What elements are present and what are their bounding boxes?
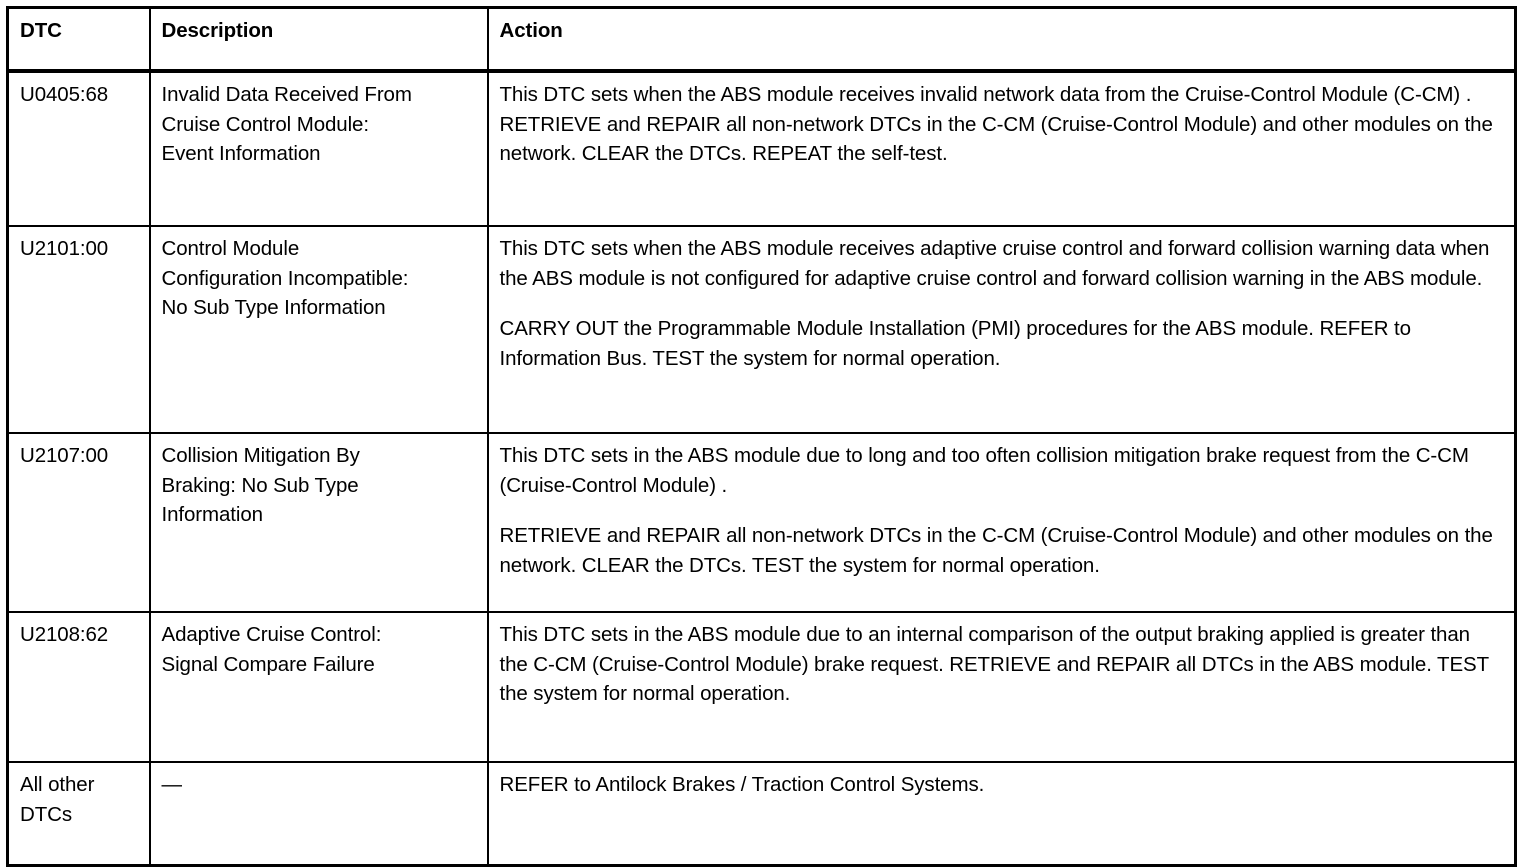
dtc-code-text: All other DTCs	[20, 770, 140, 829]
cell-description: Invalid Data Received From Cruise Contro…	[150, 71, 488, 226]
description-line: No Sub Type Information	[162, 293, 478, 323]
table-row: U2101:00 Control Module Configuration In…	[8, 226, 1516, 433]
cell-action: This DTC sets when the ABS module receiv…	[488, 226, 1516, 433]
description-text: Adaptive Cruise Control: Signal Compare …	[162, 620, 478, 679]
table-header: DTC Description Action	[8, 8, 1516, 72]
action-paragraph: This DTC sets when the ABS module receiv…	[500, 80, 1495, 169]
table-row: All other DTCs — REFER to Antilock Brake…	[8, 762, 1516, 866]
cell-action: This DTC sets when the ABS module receiv…	[488, 71, 1516, 226]
description-line: Collision Mitigation By	[162, 441, 478, 471]
cell-dtc-code: U0405:68	[8, 71, 150, 226]
column-header-dtc: DTC	[8, 8, 150, 72]
cell-description: —	[150, 762, 488, 866]
table-row: U2107:00 Collision Mitigation By Braking…	[8, 433, 1516, 612]
action-paragraph: RETRIEVE and REPAIR all non-network DTCs…	[500, 521, 1495, 580]
dtc-code-line: All other	[20, 770, 140, 800]
action-paragraph: This DTC sets in the ABS module due to a…	[500, 620, 1495, 709]
cell-dtc-code: U2107:00	[8, 433, 150, 612]
description-line: Control Module	[162, 234, 478, 264]
description-em-dash: —	[162, 770, 478, 800]
description-line: Braking: No Sub Type	[162, 471, 478, 501]
cell-description: Control Module Configuration Incompatibl…	[150, 226, 488, 433]
description-line: Information	[162, 500, 478, 530]
description-line: Signal Compare Failure	[162, 650, 478, 680]
dtc-code-text: U2108:62	[20, 623, 108, 646]
dtc-code-text: U2107:00	[20, 444, 108, 467]
action-paragraph: REFER to Antilock Brakes / Traction Cont…	[500, 770, 1495, 800]
action-paragraph: This DTC sets when the ABS module receiv…	[500, 234, 1495, 293]
cell-action: This DTC sets in the ABS module due to l…	[488, 433, 1516, 612]
description-text: Invalid Data Received From Cruise Contro…	[162, 80, 478, 169]
action-paragraph: CARRY OUT the Programmable Module Instal…	[500, 314, 1495, 373]
cell-action: REFER to Antilock Brakes / Traction Cont…	[488, 762, 1516, 866]
cell-dtc-code: All other DTCs	[8, 762, 150, 866]
description-line: Configuration Incompatible:	[162, 264, 478, 294]
cell-dtc-code: U2101:00	[8, 226, 150, 433]
description-line: Event Information	[162, 139, 478, 169]
cell-action: This DTC sets in the ABS module due to a…	[488, 612, 1516, 762]
dtc-code-line: DTCs	[20, 800, 140, 830]
table-body: U0405:68 Invalid Data Received From Crui…	[8, 71, 1516, 866]
column-header-description: Description	[150, 8, 488, 72]
dtc-code-text: U0405:68	[20, 83, 108, 106]
column-header-action: Action	[488, 8, 1516, 72]
description-text: Control Module Configuration Incompatibl…	[162, 234, 478, 323]
cell-description: Collision Mitigation By Braking: No Sub …	[150, 433, 488, 612]
description-line: Cruise Control Module:	[162, 110, 478, 140]
description-text: Collision Mitigation By Braking: No Sub …	[162, 441, 478, 530]
cell-dtc-code: U2108:62	[8, 612, 150, 762]
description-line: Adaptive Cruise Control:	[162, 620, 478, 650]
table-header-row: DTC Description Action	[8, 8, 1516, 72]
dtc-code-text: U2101:00	[20, 237, 108, 260]
cell-description: Adaptive Cruise Control: Signal Compare …	[150, 612, 488, 762]
table-row: U2108:62 Adaptive Cruise Control: Signal…	[8, 612, 1516, 762]
document-sheet: DTC Description Action U0405:68 Invalid …	[0, 0, 1520, 770]
action-paragraph: This DTC sets in the ABS module due to l…	[500, 441, 1495, 500]
table-row: U0405:68 Invalid Data Received From Crui…	[8, 71, 1516, 226]
dtc-action-table: DTC Description Action U0405:68 Invalid …	[6, 6, 1517, 867]
description-line: Invalid Data Received From	[162, 80, 478, 110]
